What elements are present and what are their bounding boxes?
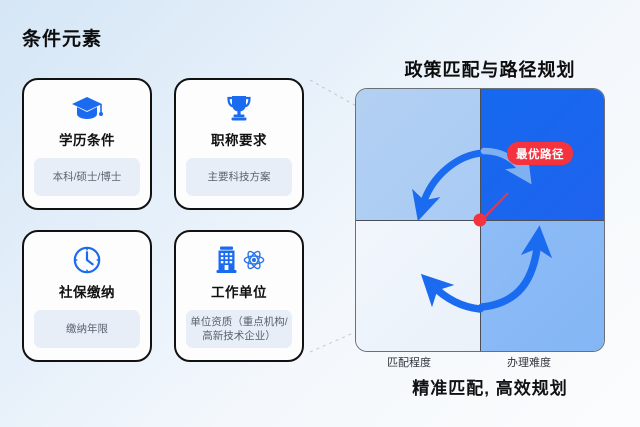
axis-label-row: 匹配程度 办理难度	[355, 354, 605, 372]
infographic-canvas: 条件元素 学历条件 本科/硕士/博士	[0, 0, 640, 427]
clock-icon	[72, 243, 102, 277]
building-icon	[214, 245, 240, 275]
card-tag: 缴纳年限	[34, 310, 140, 348]
graduation-cap-icon	[70, 91, 104, 125]
condition-card-education[interactable]: 学历条件 本科/硕士/博士	[22, 78, 152, 210]
bottom-caption: 精准匹配, 高效规划	[372, 374, 608, 399]
atom-icon	[243, 249, 265, 271]
center-point-marker[interactable]	[474, 214, 487, 227]
card-tag: 本科/硕士/博士	[34, 158, 140, 196]
card-title: 社保缴纳	[59, 281, 115, 301]
card-title: 职称要求	[211, 129, 267, 149]
card-title: 学历条件	[59, 129, 115, 149]
axis-label-match-degree: 匹配程度	[387, 354, 431, 370]
quadrant-matrix[interactable]: 最优路径	[355, 88, 605, 352]
axis-label-process-difficulty: 办理难度	[507, 354, 551, 370]
optimal-path-badge[interactable]: 最优路径	[507, 142, 573, 165]
card-tag: 主要科技方案	[186, 158, 292, 196]
building-atom-icon	[214, 243, 265, 277]
left-section-title: 条件元素	[22, 24, 102, 51]
condition-card-social-insurance[interactable]: 社保缴纳 缴纳年限	[22, 230, 152, 362]
right-section-title: 政策匹配与路径规划	[382, 56, 598, 82]
card-tag: 单位资质（重点机构/高新技术企业）	[186, 310, 292, 348]
card-title: 工作单位	[211, 281, 267, 301]
condition-card-title-requirement[interactable]: 职称要求 主要科技方案	[174, 78, 304, 210]
condition-card-employer[interactable]: 工作单位 单位资质（重点机构/高新技术企业）	[174, 230, 304, 362]
trophy-icon	[224, 91, 254, 125]
